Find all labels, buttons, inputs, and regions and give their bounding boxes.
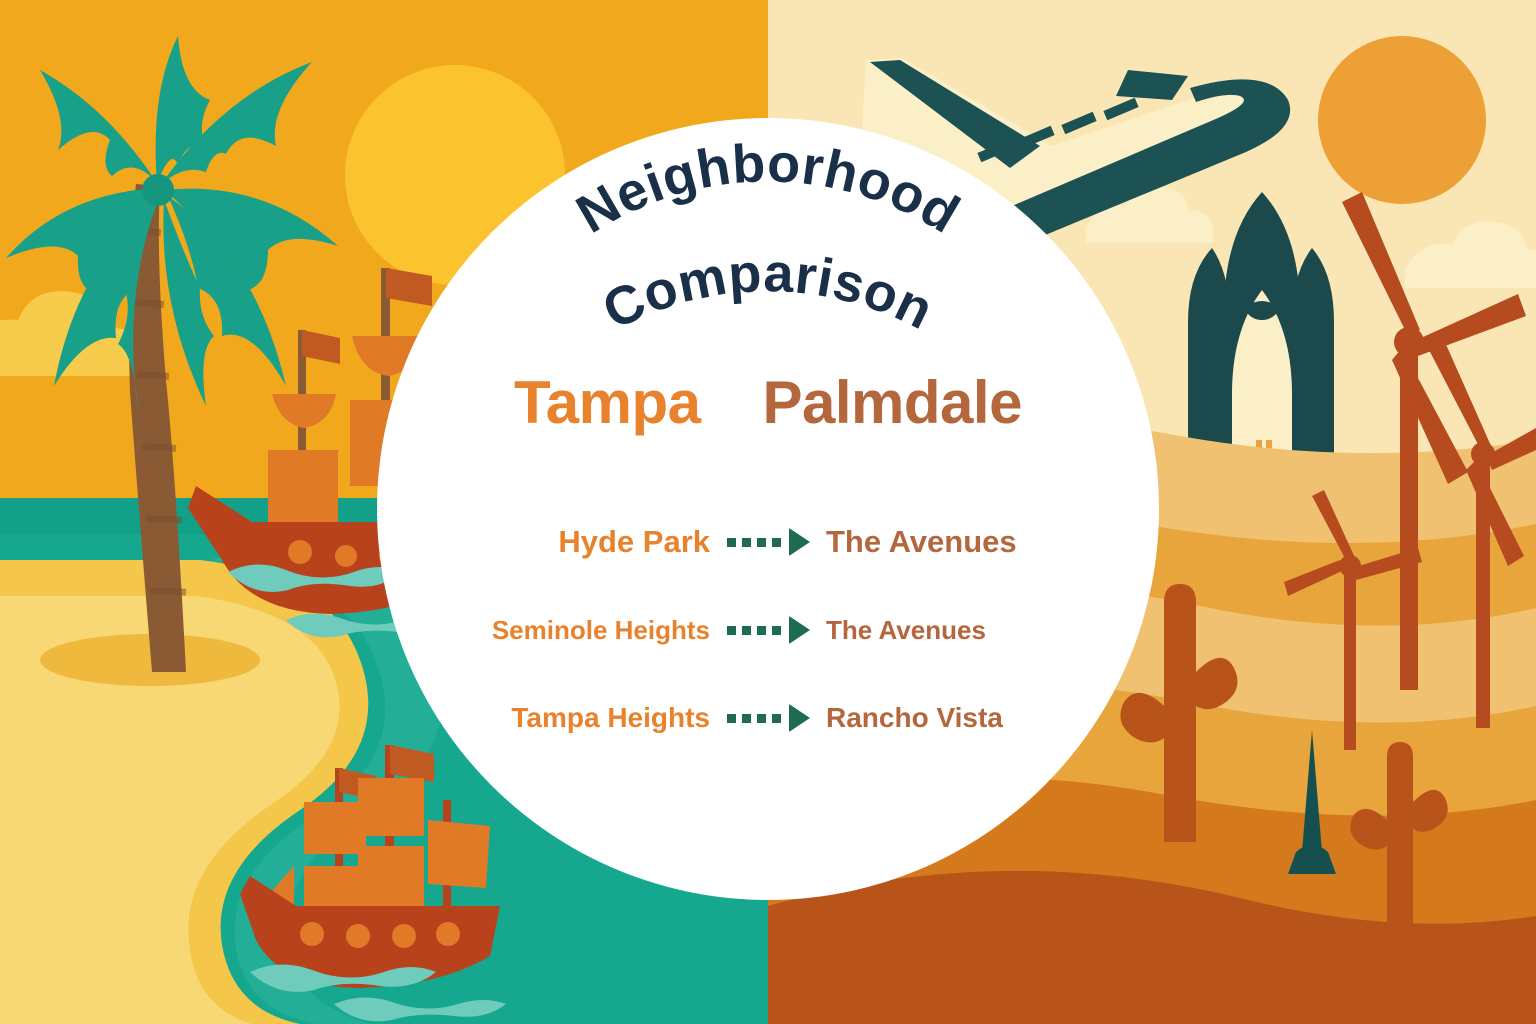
arrow-dot <box>757 538 766 547</box>
arrow-dot <box>772 538 781 547</box>
title-line-2: Comparison <box>594 243 943 341</box>
arrow-dot <box>742 626 751 635</box>
dotted-arrow-right-icon <box>726 708 810 728</box>
arrow-head <box>789 528 810 556</box>
dotted-arrow-right-icon <box>726 532 810 552</box>
neighborhood-right: Rancho Vista <box>810 702 1086 734</box>
neighborhood-left: Seminole Heights <box>450 615 726 646</box>
arrow-dot <box>742 714 751 723</box>
arrow-dot <box>742 538 751 547</box>
arrow-dot <box>772 626 781 635</box>
arrow-head <box>789 616 810 644</box>
arrow-dot <box>727 714 736 723</box>
arrow-dot <box>757 626 766 635</box>
comparison-row: Tampa Heights Rancho Vista <box>377 674 1159 762</box>
card-title: Neighborhood Comparison <box>377 160 1159 375</box>
neighborhood-right: The Avenues <box>810 615 1086 646</box>
arrow-dot <box>772 714 781 723</box>
arrow-head <box>789 704 810 732</box>
title-line-1: Neighborhood <box>567 133 970 245</box>
comparison-list: Hyde Park The Avenues Seminole Heights <box>377 498 1159 762</box>
arrow-dot <box>727 626 736 635</box>
desert-sun-icon <box>1318 36 1486 204</box>
city-name-right: Palmdale <box>762 373 1021 433</box>
arrow-dot <box>757 714 766 723</box>
svg-text:Neighborhood: Neighborhood <box>567 133 970 245</box>
city-name-left: Tampa <box>514 373 700 433</box>
neighborhood-left: Tampa Heights <box>450 702 726 734</box>
poster-canvas: Neighborhood Comparison Tampa Palmdale H… <box>0 0 1536 1024</box>
city-headings: Tampa Palmdale <box>377 373 1159 433</box>
neighborhood-left: Hyde Park <box>450 524 726 560</box>
dotted-arrow-right-icon <box>726 620 810 640</box>
comparison-row: Hyde Park The Avenues <box>377 498 1159 586</box>
neighborhood-right: The Avenues <box>810 524 1086 560</box>
arrow-dot <box>727 538 736 547</box>
comparison-card: Neighborhood Comparison Tampa Palmdale H… <box>377 118 1159 900</box>
svg-text:Comparison: Comparison <box>594 243 943 341</box>
comparison-row: Seminole Heights The Avenues <box>377 586 1159 674</box>
